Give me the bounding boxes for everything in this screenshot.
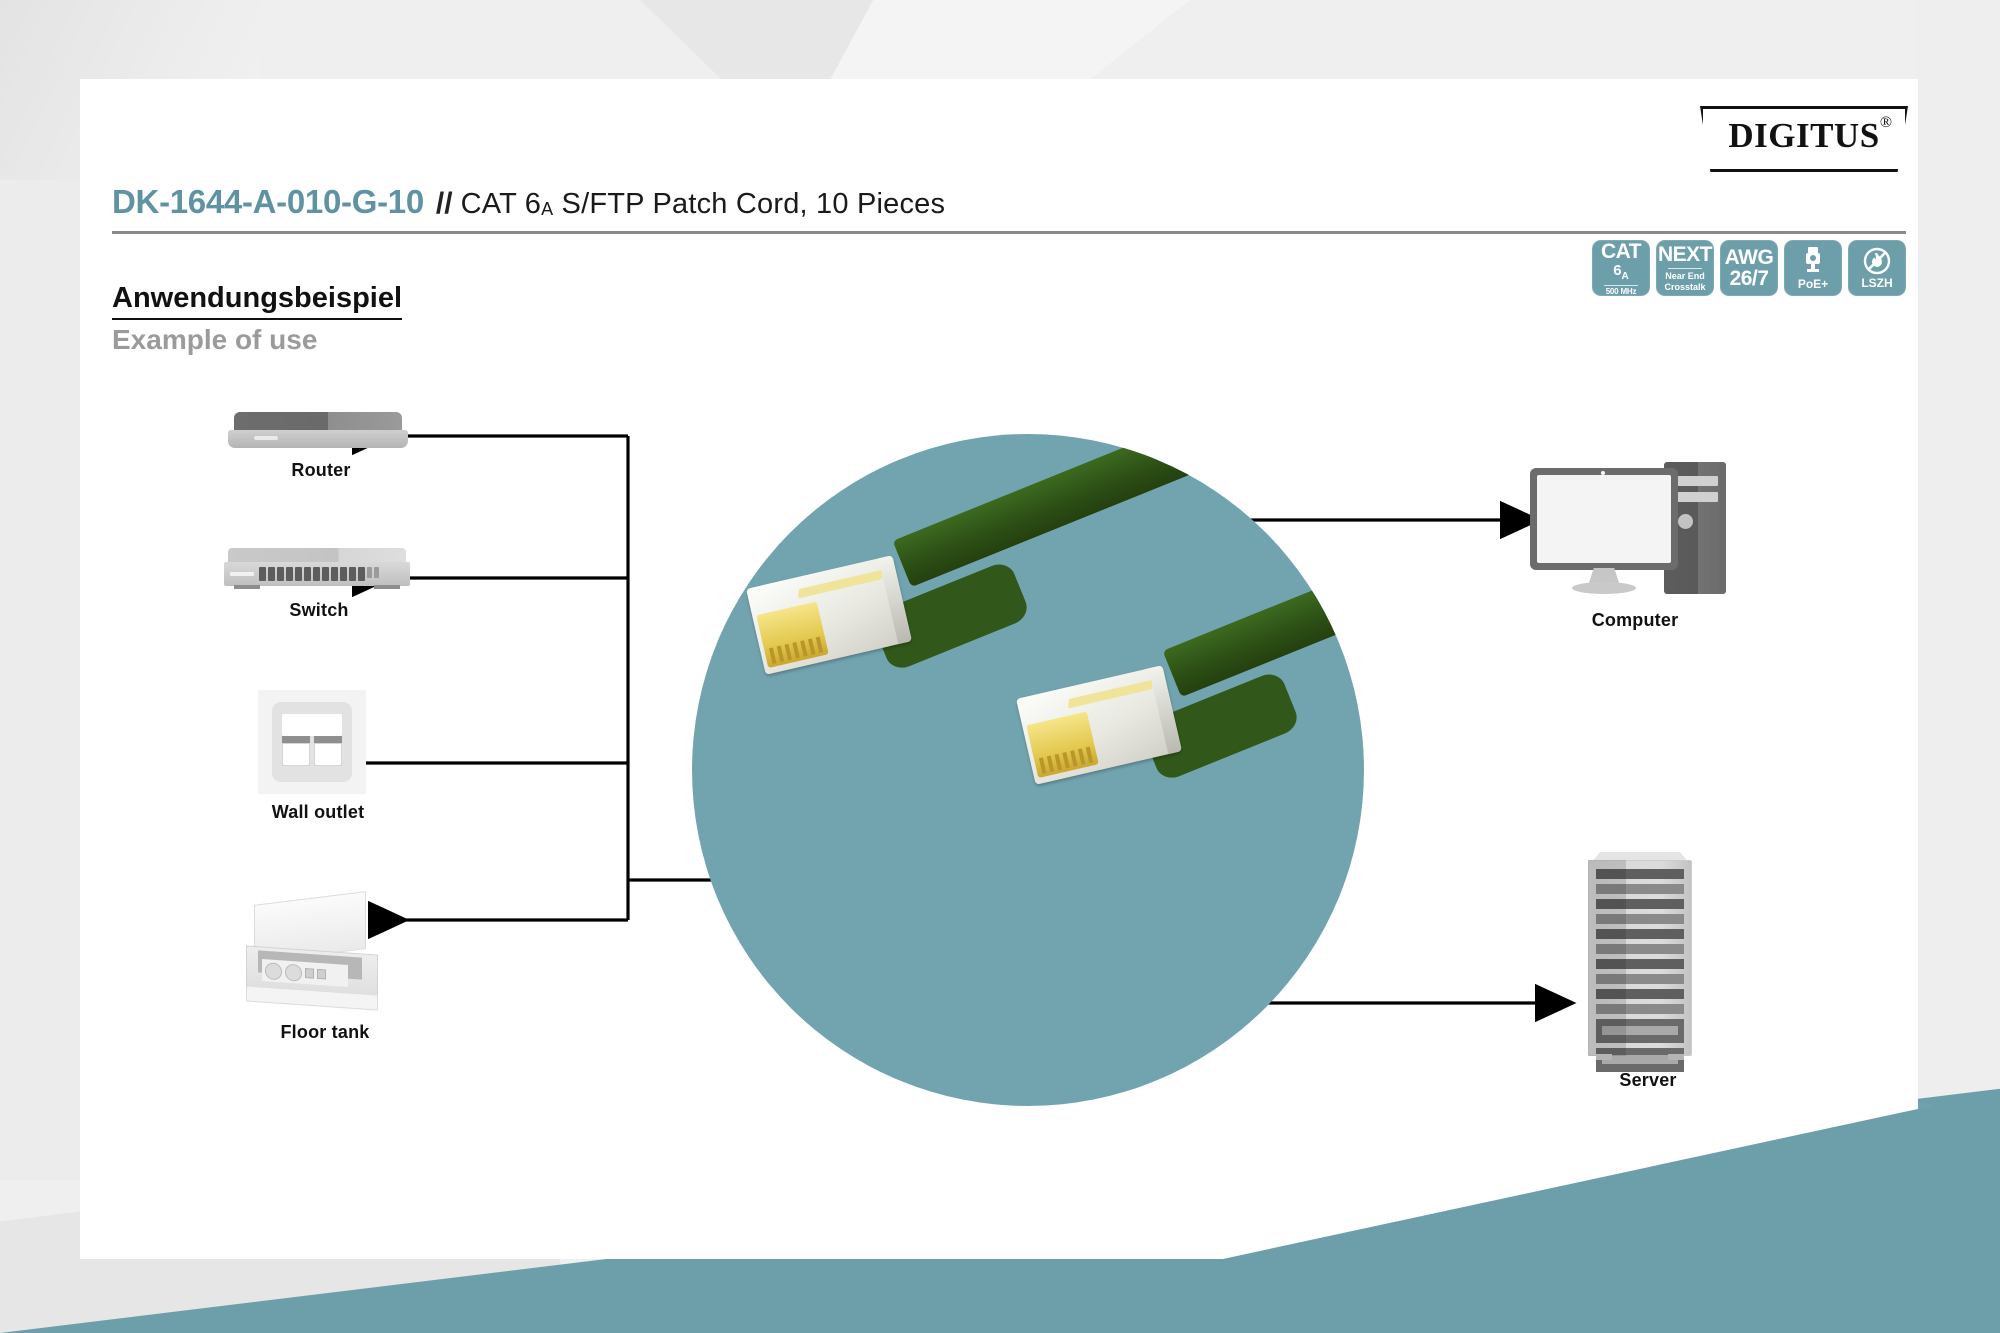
floor-tank-socket-2: [285, 963, 302, 981]
server-label: Server: [1588, 1070, 1708, 1091]
node-switch: Switch: [224, 548, 414, 621]
wall-outlet-jacks: [282, 736, 342, 766]
plug-lower-contacts: [1026, 711, 1099, 778]
switch-label: Switch: [224, 600, 414, 621]
node-router: Router: [228, 412, 414, 481]
node-floor-tank: Floor tank: [240, 898, 410, 1043]
plug-lower-strip: [1068, 680, 1153, 709]
computer-icon: [1530, 462, 1730, 602]
floor-tank-label: Floor tank: [240, 1022, 410, 1043]
computer-drive-bay-1: [1672, 476, 1718, 486]
switch-foot-right: [374, 585, 400, 589]
computer-label: Computer: [1530, 610, 1740, 631]
wall-outlet-jack-2: [314, 736, 342, 766]
floor-tank-rj45-2: [317, 969, 326, 980]
computer-monitor: [1530, 468, 1678, 570]
wall-outlet-icon: [258, 690, 366, 794]
server-icon: [1588, 852, 1692, 1062]
floor-tank-rj45-1: [305, 968, 314, 979]
node-wall-outlet: Wall outlet: [258, 690, 378, 823]
server-shadow: [1588, 860, 1626, 1056]
wall-outlet-window: [282, 714, 342, 736]
router-label: Router: [228, 460, 414, 481]
computer-stand-base: [1572, 582, 1636, 594]
computer-drive-bay-2: [1672, 492, 1718, 502]
router-led: [254, 436, 278, 440]
computer-power-button: [1678, 514, 1693, 529]
floor-tank-icon: [240, 898, 390, 1014]
wall-outlet-label: Wall outlet: [258, 802, 378, 823]
wall-outlet-jack-1: [282, 736, 310, 766]
computer-screen: [1537, 475, 1671, 563]
switch-face: [224, 562, 410, 586]
floor-tank-socket-1: [265, 962, 282, 980]
node-computer: Computer: [1530, 462, 1740, 631]
switch-display: [230, 572, 254, 576]
product-image-circle: [692, 434, 1364, 1106]
computer-webcam: [1601, 471, 1605, 475]
server-foot-left: [1596, 1054, 1612, 1060]
plug-upper-strip: [798, 570, 883, 599]
router-icon: [228, 412, 408, 452]
switch-icon: [224, 548, 410, 592]
plug-upper-contacts: [756, 601, 829, 668]
node-server: Server: [1588, 852, 1708, 1091]
switch-foot-left: [234, 585, 260, 589]
server-foot-right: [1668, 1054, 1684, 1060]
switch-ports: [259, 567, 379, 581]
